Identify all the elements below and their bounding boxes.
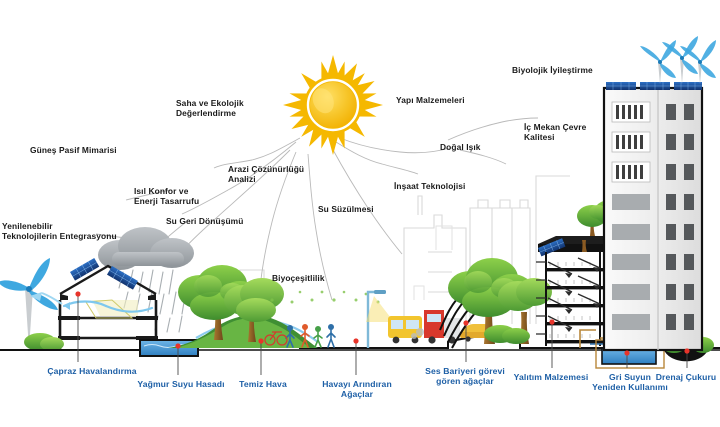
top-label-yapi-malzemeleri: Yapı Malzemeleri [396, 96, 465, 106]
wind-turbine-icon [640, 36, 716, 84]
callout-marker [463, 320, 468, 325]
top-label-arazi-cozunurlugu-analizi: Arazi Çözünürlüğü Analizi [228, 165, 304, 185]
solar-panel-icon [606, 82, 702, 90]
bottom-label-ses-bariyeri-goren-agaclar: Ses Bariyeri görevi gören ağaçlar [425, 366, 505, 386]
bottom-label-yagmur-suyu-hasadi: Yağmur Suyu Hasadı [137, 379, 224, 389]
callout-marker [624, 350, 629, 355]
skyline-outline-left [414, 226, 452, 300]
leaf-particles [270, 291, 379, 304]
top-label-dogal-isik: Doğal Işık [440, 143, 481, 153]
top-label-yenilenebilir-teknolojilerin-entegrasyonu: Yenilenebilir Teknolojilerin Entegrasyon… [2, 222, 117, 242]
top-label-ic-mekan-cevre-kalitesi: İç Mekan Çevre Kalitesi [524, 123, 586, 143]
bottom-label-havayi-arindiran-agaclar: Havayı Arındıran Ağaçlar [322, 379, 392, 399]
callout-marker [75, 291, 80, 296]
top-label-su-suzulmesi: Su Süzülmesi [318, 205, 374, 215]
bottom-label-temiz-hava: Temiz Hava [239, 379, 287, 389]
top-label-gunes-pasif-mimarisi: Güneş Pasif Mimarisi [30, 146, 117, 156]
top-label-biyocesitlilik: Biyoçeşitlilik [272, 274, 325, 284]
bottom-label-capraz-havalandirma: Çapraz Havalandırma [47, 366, 136, 376]
shrub-icon [24, 333, 64, 351]
person-icon [314, 326, 322, 347]
high-rise-building [604, 36, 716, 350]
bottom-label-drenaj-cukuru: Drenaj Çukuru [656, 372, 717, 382]
bottom-label-yalitim-malzemesi: Yalıtım Malzemesi [514, 372, 589, 382]
infographic-canvas: Güneş Pasif MimarisiSaha ve Ekolojik Değ… [0, 0, 720, 427]
sun-icon [283, 55, 383, 155]
person-icon [327, 324, 335, 347]
callout-marker [175, 343, 180, 348]
callout-marker [684, 348, 689, 353]
top-label-biyolojik-iyilestirme: Biyolojik İyileştirme [512, 66, 593, 76]
top-label-insaat-teknolojisi: İnşaat Teknolojisi [394, 182, 465, 192]
top-label-isil-konfor-ve-enerji-tasarrufu: Isıl Konfor ve Enerji Tasarrufu [134, 187, 199, 207]
top-label-saha-ve-ekolojik-degerlendirme: Saha ve Ekolojik Değerlendirme [176, 99, 244, 119]
callout-marker [258, 338, 263, 343]
callout-marker [549, 319, 554, 324]
callout-marker [353, 338, 358, 343]
top-label-su-geri-donusumu: Su Geri Dönüşümü [166, 217, 243, 227]
